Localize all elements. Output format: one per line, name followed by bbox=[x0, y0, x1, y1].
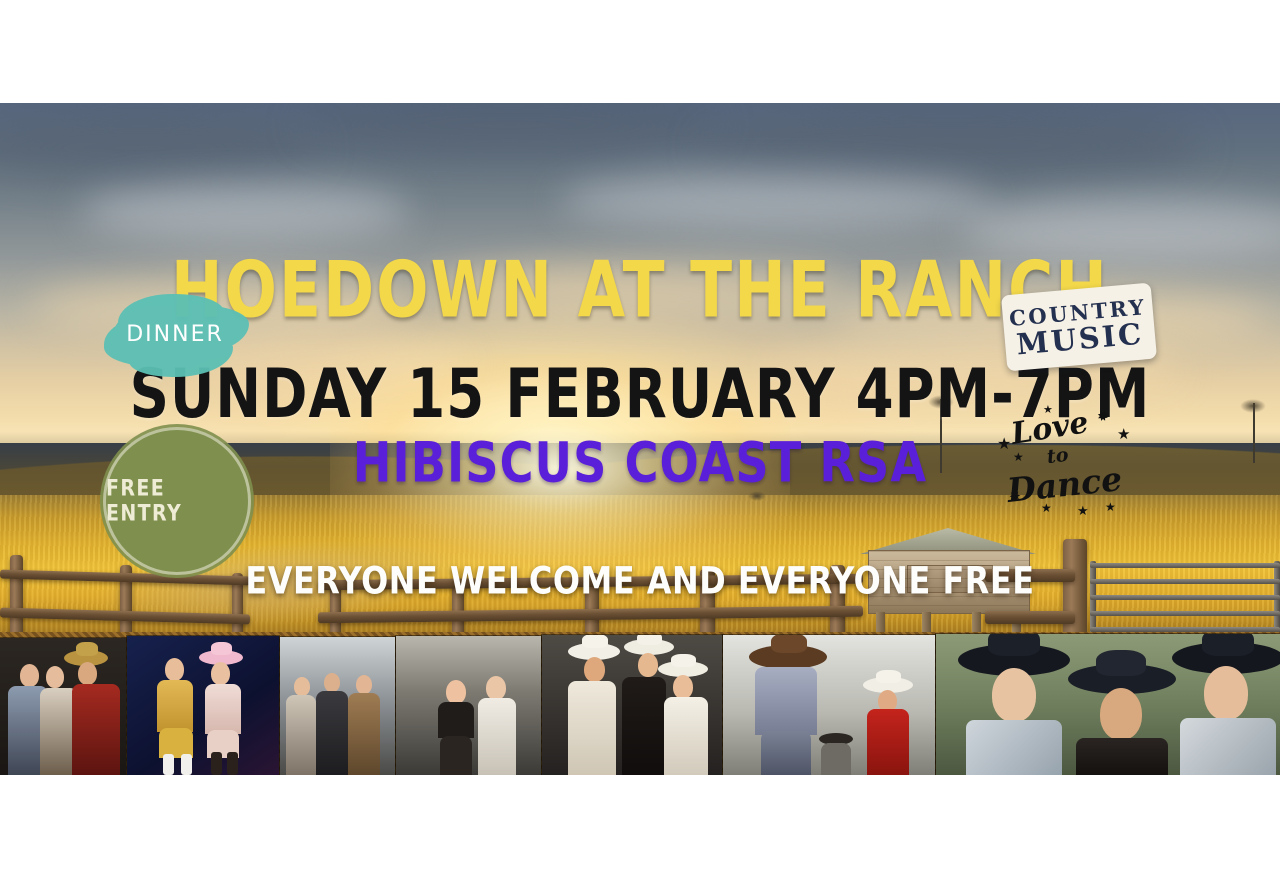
shed-leg bbox=[972, 612, 981, 633]
person-head bbox=[584, 657, 605, 682]
star-icon: ★ bbox=[1013, 451, 1024, 463]
person-body bbox=[1180, 718, 1276, 775]
person-head bbox=[446, 680, 466, 704]
cloud bbox=[80, 183, 410, 241]
collage-photo bbox=[542, 635, 722, 775]
dinner-badge: DINNER bbox=[112, 300, 238, 368]
person-body bbox=[568, 681, 616, 775]
photo-collage-strip bbox=[0, 632, 1280, 775]
person-body bbox=[72, 684, 120, 775]
event-poster: HOEDOWN AT THE RANCH SUNDAY 15 FEBRUARY … bbox=[0, 103, 1280, 775]
person-head bbox=[20, 664, 39, 687]
person-head bbox=[1204, 666, 1248, 720]
person-body bbox=[316, 691, 348, 775]
person-body bbox=[157, 680, 193, 732]
person-body bbox=[205, 684, 241, 734]
country-music-line2: MUSIC bbox=[1015, 319, 1145, 359]
person-body bbox=[1076, 738, 1168, 775]
collage-photo bbox=[396, 636, 541, 775]
person-body bbox=[966, 720, 1062, 775]
person-head bbox=[46, 666, 64, 688]
person-body bbox=[664, 697, 708, 775]
fence-rail bbox=[985, 611, 1075, 624]
boot bbox=[181, 754, 192, 775]
bottom-white-margin bbox=[0, 775, 1280, 880]
shed-leg bbox=[922, 612, 931, 633]
shed-leg bbox=[876, 612, 885, 633]
country-music-sticker: COUNTRY MUSIC bbox=[1001, 283, 1157, 372]
collage-photo bbox=[0, 638, 126, 775]
love-to-dance-badge: ★ ★ ★ ★ ★ ★ ★ ✸ ✸ Love to Dance bbox=[985, 403, 1145, 518]
collage-photo bbox=[936, 634, 1280, 775]
person-body bbox=[438, 702, 474, 738]
boot bbox=[227, 752, 238, 775]
collage-photo bbox=[127, 636, 279, 775]
collage-photo bbox=[280, 637, 395, 775]
person-head bbox=[78, 662, 97, 685]
person-head bbox=[324, 673, 340, 692]
person-head bbox=[165, 658, 184, 681]
person-head bbox=[1100, 688, 1142, 740]
dinner-badge-label: DINNER bbox=[112, 300, 238, 368]
collage-photo bbox=[723, 635, 935, 775]
cloud bbox=[560, 173, 990, 229]
person-head bbox=[992, 668, 1036, 722]
star-icon: ★ bbox=[1077, 504, 1089, 517]
person-head bbox=[294, 677, 310, 696]
person-head bbox=[356, 675, 372, 694]
person-body bbox=[867, 709, 909, 775]
burst-icon: ✸ bbox=[1095, 407, 1111, 424]
person-body bbox=[622, 677, 666, 775]
person-head bbox=[211, 662, 230, 685]
person-body bbox=[286, 695, 316, 775]
person-body bbox=[348, 693, 380, 775]
person-head bbox=[486, 676, 506, 700]
star-icon: ★ bbox=[1105, 501, 1116, 513]
boot bbox=[163, 754, 174, 775]
top-white-margin bbox=[0, 0, 1280, 103]
person-head bbox=[673, 675, 693, 699]
free-entry-badge: FREE ENTRY bbox=[103, 427, 251, 575]
person-body bbox=[755, 667, 817, 735]
person-body bbox=[478, 698, 516, 775]
gate-bar bbox=[1090, 611, 1280, 616]
boot bbox=[211, 752, 222, 775]
star-icon: ★ bbox=[997, 437, 1011, 453]
star-icon: ★ bbox=[1117, 427, 1130, 442]
free-entry-label: FREE ENTRY bbox=[106, 476, 248, 527]
person-head bbox=[638, 653, 658, 677]
